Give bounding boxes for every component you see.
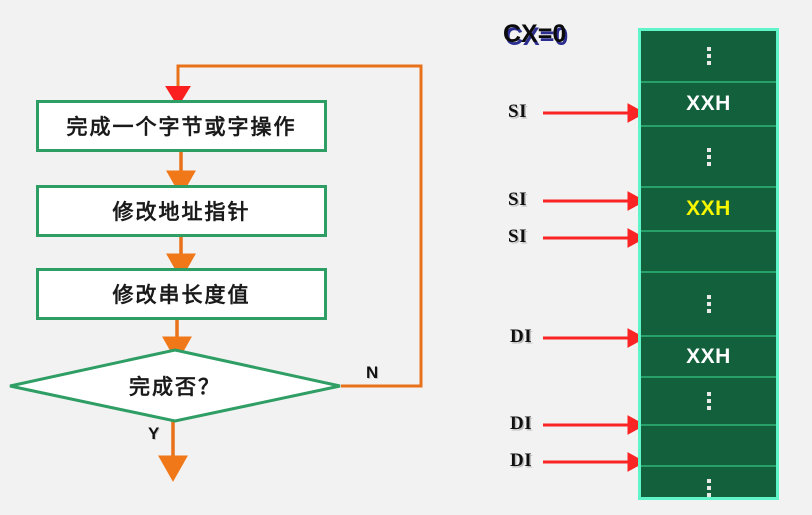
cx-zero-flag-label: CX=0 [503, 20, 566, 49]
pointer-label-di-2: DI [510, 413, 532, 435]
memory-row[interactable] [641, 378, 776, 426]
memory-cell-value-highlighted: XXH [686, 197, 731, 221]
vertical-ellipsis-icon [707, 392, 711, 410]
memory-row[interactable] [641, 467, 776, 509]
branch-label-yes: Y [148, 424, 159, 444]
memory-cell-value: XXH [686, 92, 731, 116]
pointer-label-di-1: DI [510, 326, 532, 348]
memory-row[interactable] [641, 31, 776, 83]
diagram-canvas: 完成一个字节或字操作 修改地址指针 修改串长度值 完成否？ N Y CX=0 X… [0, 0, 812, 515]
flow-box-label: 修改串长度值 [113, 279, 251, 309]
flow-box-modify-address-pointer[interactable]: 修改地址指针 [36, 185, 327, 237]
branch-label-no: N [366, 363, 378, 383]
memory-row[interactable] [641, 273, 776, 337]
pointer-label-si-2: SI [508, 189, 527, 211]
decision-node-label: 完成否？ [10, 350, 340, 422]
flow-box-label: 修改地址指针 [113, 196, 251, 226]
flow-box-complete-operation[interactable]: 完成一个字节或字操作 [36, 100, 327, 152]
decision-node-complete[interactable]: 完成否？ [10, 350, 340, 422]
memory-row[interactable]: XXH [641, 83, 776, 127]
memory-row[interactable] [641, 127, 776, 188]
vertical-ellipsis-icon [707, 148, 711, 166]
memory-row[interactable] [641, 232, 776, 273]
vertical-ellipsis-icon [707, 479, 711, 497]
flow-box-modify-string-length[interactable]: 修改串长度值 [36, 268, 327, 320]
pointer-label-di-3: DI [510, 450, 532, 472]
vertical-ellipsis-icon [707, 295, 711, 313]
memory-row[interactable]: XXH [641, 337, 776, 378]
pointer-label-si-1: SI [508, 101, 527, 123]
flow-box-label: 完成一个字节或字操作 [67, 111, 297, 141]
memory-block: XXH XXH XXH [638, 28, 779, 500]
pointer-label-si-3: SI [508, 226, 527, 248]
memory-cell-value: XXH [686, 345, 731, 369]
memory-row[interactable] [641, 426, 776, 467]
memory-row-highlighted[interactable]: XXH [641, 188, 776, 232]
vertical-ellipsis-icon [707, 47, 711, 65]
